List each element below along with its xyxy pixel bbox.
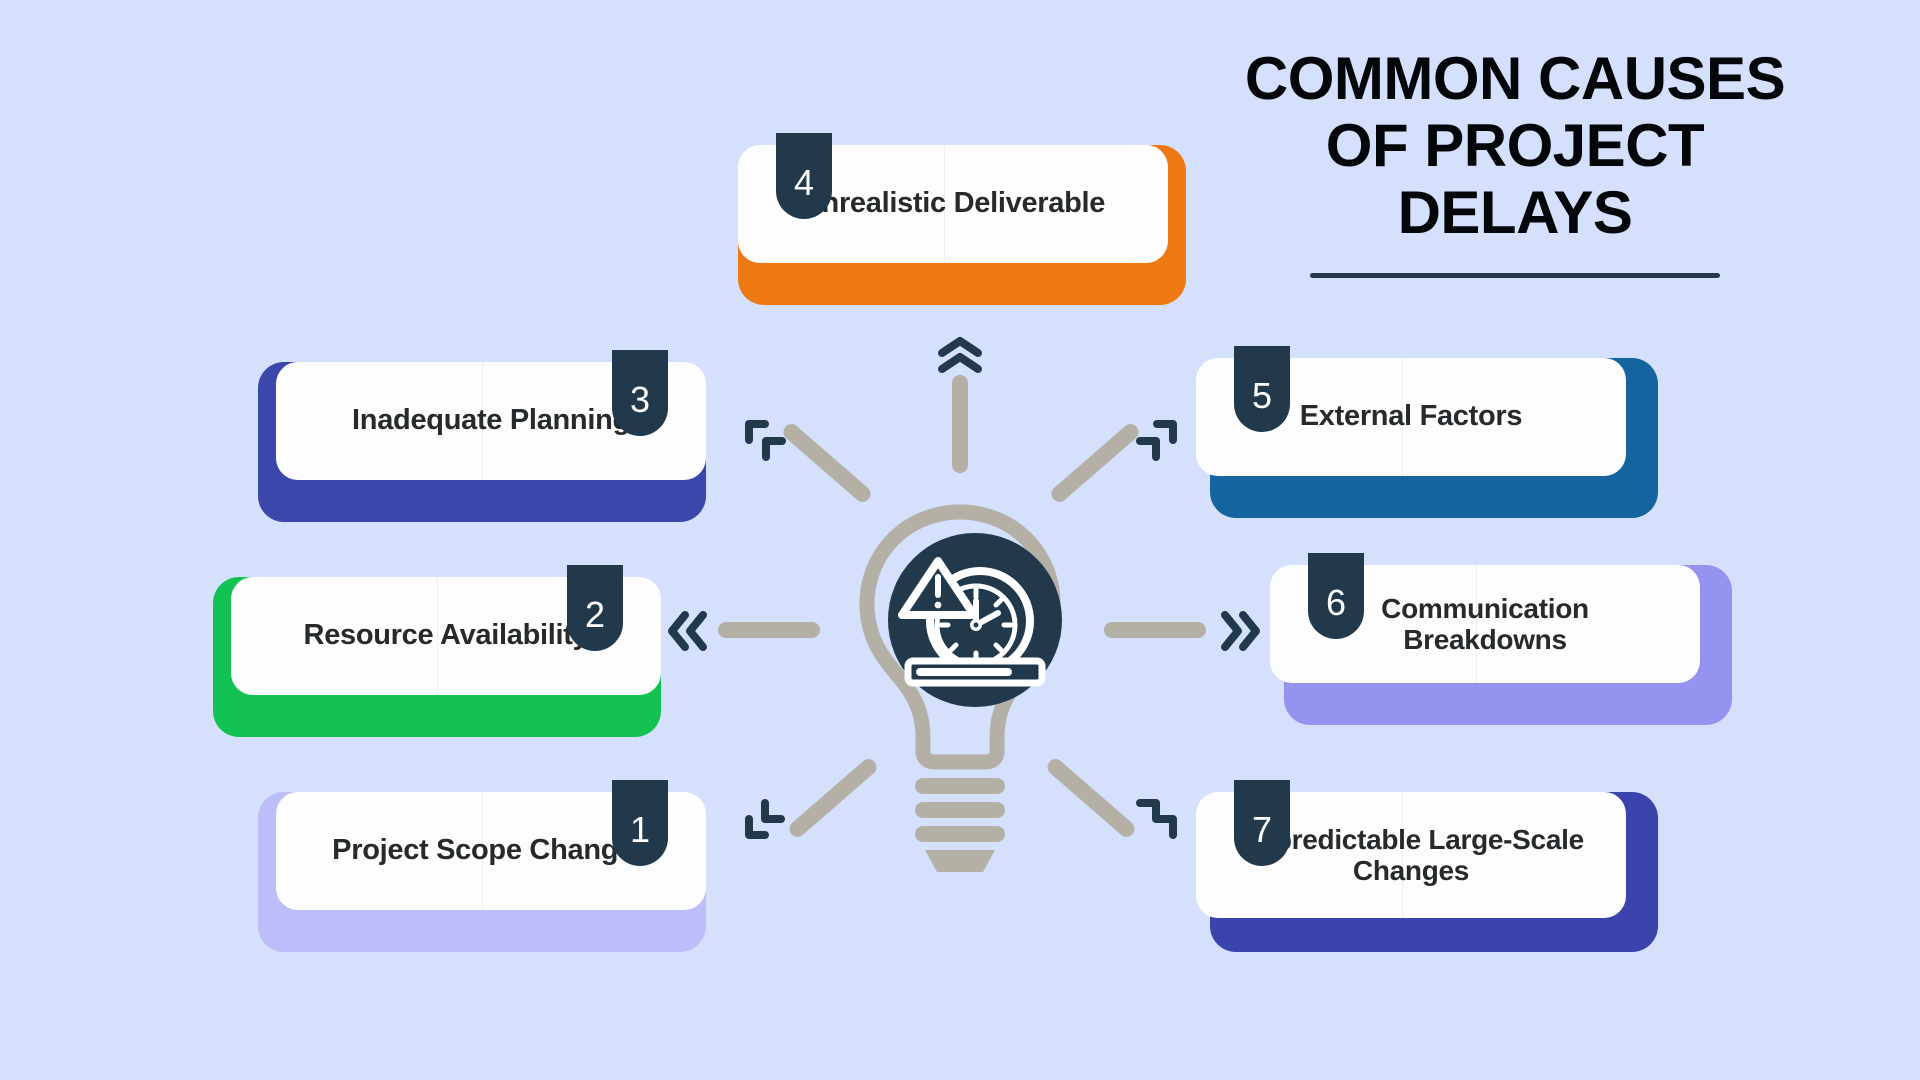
card-5-label: External Factors: [1274, 400, 1548, 434]
center-lightbulb-graphic: [845, 490, 1075, 890]
card-3-label: Inadequate Planning: [326, 404, 656, 438]
page-title: COMMON CAUSES OF PROJECT DELAYS: [1205, 45, 1825, 247]
connector-bar-vertical-top: [952, 375, 968, 473]
card-7[interactable]: Unpredictable Large-Scale Changes 7: [1196, 792, 1644, 952]
card-2[interactable]: Resource Availability 2: [213, 577, 661, 737]
corner-bracket-down-left-icon: [742, 796, 794, 846]
card-3[interactable]: Inadequate Planning 3: [258, 362, 706, 522]
connector-bar-horizontal-right: [1104, 622, 1206, 638]
title-underline-rule: [1310, 273, 1720, 278]
card-5-number-badge: 5: [1234, 346, 1290, 432]
card-2-number-badge: 2: [567, 565, 623, 651]
card-7-number-badge: 7: [1234, 780, 1290, 866]
card-3-number-badge: 3: [612, 350, 668, 436]
corner-bracket-up-left-icon: [742, 416, 794, 466]
clock-delay-warning-icon: [888, 533, 1062, 707]
card-5[interactable]: External Factors 5: [1196, 358, 1644, 518]
double-chevron-right-icon: [1216, 608, 1264, 654]
card-6-number-badge: 6: [1308, 553, 1364, 639]
double-chevron-left-icon: [664, 608, 712, 654]
connector-bar-horizontal-left: [718, 622, 820, 638]
infographic-canvas: COMMON CAUSES OF PROJECT DELAYS: [0, 0, 1920, 1080]
card-4-number-badge: 4: [776, 133, 832, 219]
card-4[interactable]: Unrealistic Deliverable 4: [738, 145, 1186, 305]
card-1[interactable]: Project Scope Changes 1: [258, 792, 706, 952]
card-1-number-badge: 1: [612, 780, 668, 866]
title-block: COMMON CAUSES OF PROJECT DELAYS: [1205, 45, 1825, 278]
corner-bracket-up-right-icon: [1128, 416, 1180, 466]
card-6[interactable]: Communication Breakdowns 6: [1270, 565, 1718, 725]
corner-bracket-down-right-icon: [1128, 796, 1180, 846]
card-2-label: Resource Availability: [278, 619, 615, 653]
double-chevron-up-icon: [932, 336, 988, 376]
